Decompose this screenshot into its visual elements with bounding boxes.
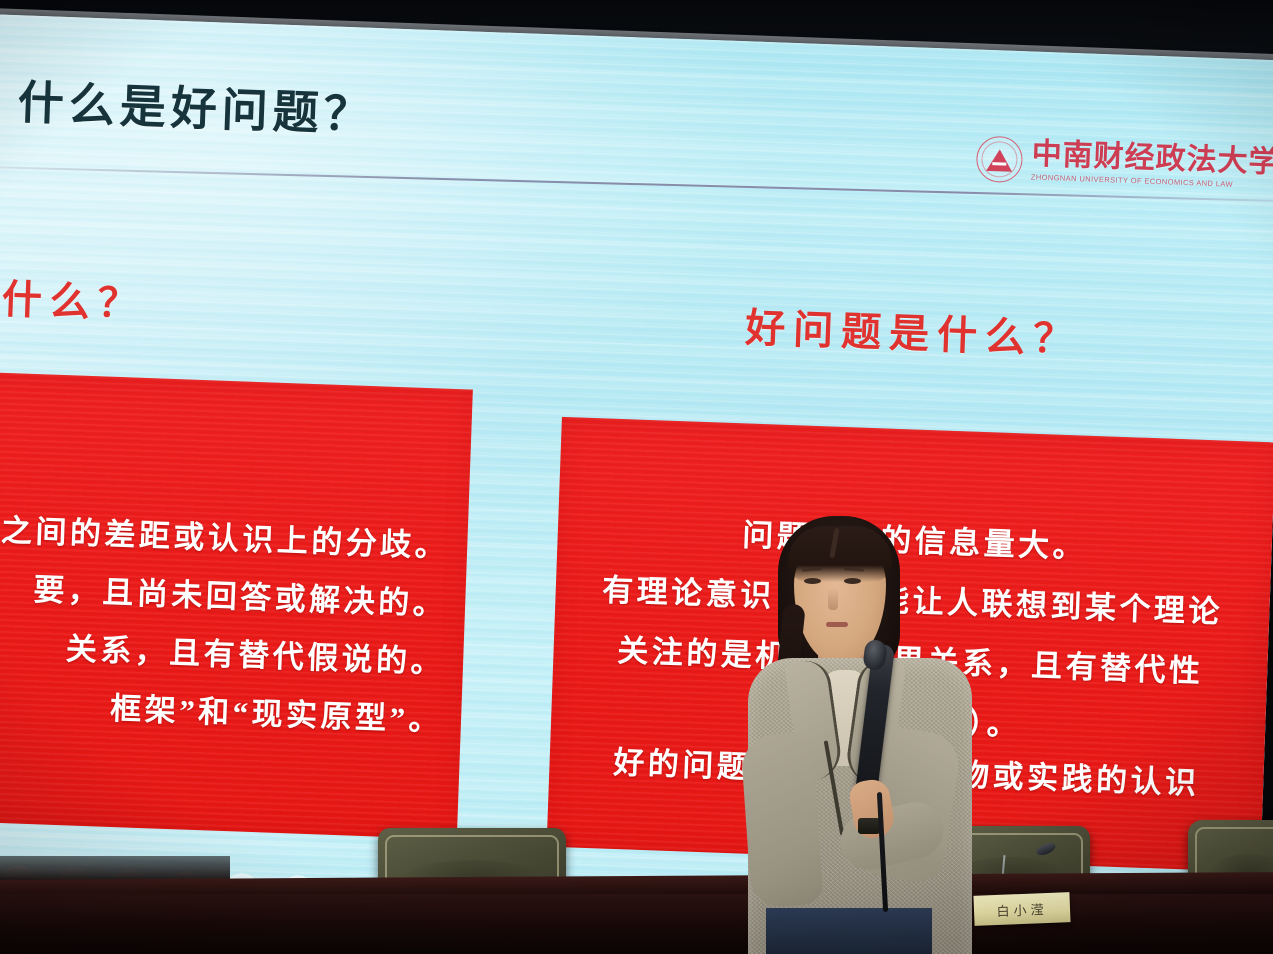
conference-table-front bbox=[0, 894, 1273, 954]
arm-left bbox=[740, 732, 824, 909]
university-name-chinese: 中南财经政法大学 bbox=[1031, 140, 1273, 179]
nose bbox=[828, 588, 838, 610]
badge bbox=[858, 818, 880, 834]
eye-left bbox=[804, 578, 821, 584]
projection-screen: 问题？什么是好问题？ 中南财经政法大学 ZHONGNAN UNIVERSITY … bbox=[0, 14, 1273, 940]
hair-front bbox=[788, 526, 892, 582]
heading-left-column: 问题是什么？ bbox=[0, 262, 147, 330]
panel-left-line-1: 之间的差距或认识上的分歧。 bbox=[0, 499, 468, 566]
red-panel-left: 之间的差距或认识上的分歧。 要，且尚未回答或解决的。 关系，且有替代假说的。 框… bbox=[0, 367, 473, 839]
university-seal-icon bbox=[976, 136, 1024, 184]
eye-right bbox=[844, 578, 861, 584]
name-card-text: 白小滢 bbox=[996, 899, 1048, 920]
panel-left-line-4: 框架”和“现实原型”。 bbox=[0, 673, 462, 740]
skirt bbox=[766, 908, 932, 954]
presentation-photo: 问题？什么是好问题？ 中南财经政法大学 ZHONGNAN UNIVERSITY … bbox=[0, 0, 1273, 954]
panel-left-line-2: 要，且尚未回答或解决的。 bbox=[0, 557, 466, 624]
seal-letter-a-icon bbox=[986, 149, 1013, 172]
mouth bbox=[826, 622, 848, 627]
heading-right-column: 好问题是什么？ bbox=[744, 295, 1082, 365]
panel-left-line-3: 关系，且有替代假说的。 bbox=[0, 615, 464, 682]
name-card: 白小滢 bbox=[973, 892, 1070, 926]
speaker-figure bbox=[740, 508, 980, 954]
